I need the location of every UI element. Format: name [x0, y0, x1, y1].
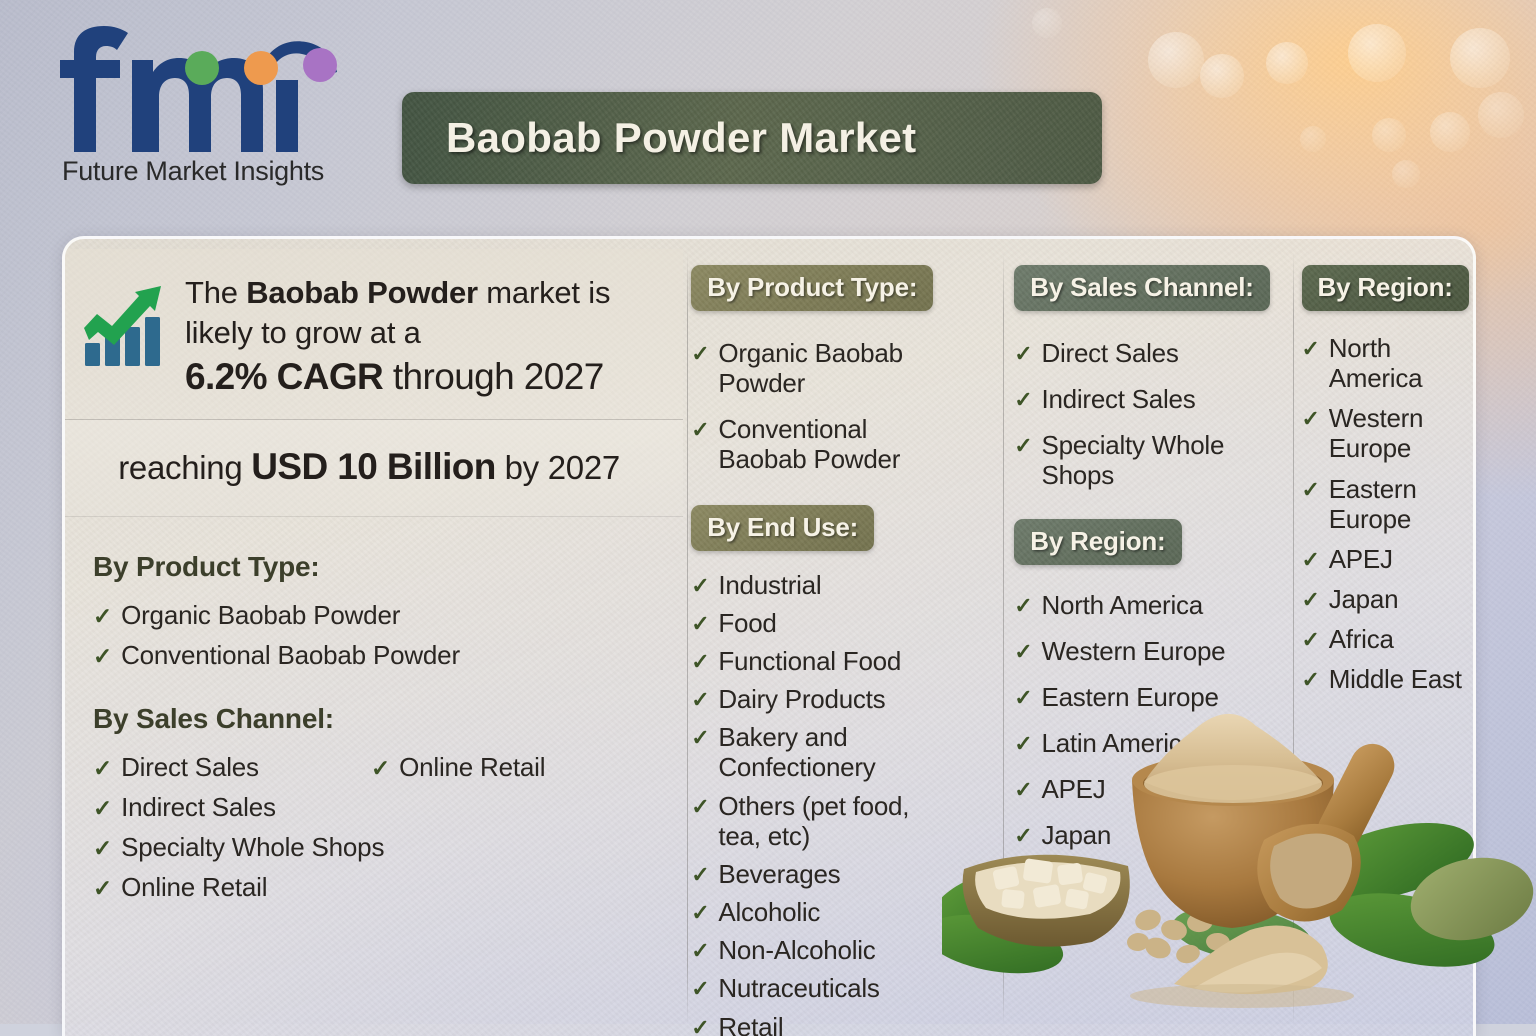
check-icon: ✓ [691, 796, 709, 818]
growth-chart-icon [83, 283, 175, 369]
list-item-label: Latin America [1041, 728, 1195, 758]
list-sales-channel: ✓ Direct Sales ✓ Indirect Sales ✓ Specia… [1014, 330, 1287, 499]
list-item[interactable]: ✓ Western Europe [1014, 628, 1287, 674]
list-region: ✓ North America ✓ Western Europe ✓ Easte… [1302, 328, 1474, 700]
list-item-label: Functional Food [718, 646, 901, 676]
check-icon: ✓ [1014, 733, 1032, 755]
left-list-sales-channel: ✓ Direct Sales ✓ Online Retail ✓ Indirec… [93, 747, 683, 907]
check-icon: ✓ [93, 645, 112, 668]
check-icon: ✓ [691, 727, 709, 749]
list-item-label: Eastern Europe [1041, 682, 1218, 712]
column-sales-channel-region: By Sales Channel: ✓ Direct Sales ✓ Indir… [998, 239, 1287, 1036]
list-item-label: Western Europe [1329, 403, 1447, 463]
check-icon: ✓ [691, 343, 709, 365]
list-item[interactable]: ✓ Non-Alcoholic [691, 931, 998, 969]
section-pill-region: By Region: [1302, 265, 1469, 311]
list-item-label: Japan [1041, 820, 1111, 850]
list-item[interactable]: ✓ North America [1014, 582, 1287, 628]
check-icon: ✓ [691, 902, 709, 924]
check-icon: ✓ [691, 651, 709, 673]
list-item-label: Direct Sales [121, 754, 259, 780]
list-item-label: APEJ [1329, 544, 1393, 574]
list-item-label: Nutraceuticals [718, 973, 879, 1003]
check-icon: ✓ [1014, 389, 1032, 411]
column-divider-2 [1003, 253, 1004, 1025]
stat-cagr-line: 6.2% CAGR through 2027 [185, 353, 610, 401]
list-item-label: Non-Alcoholic [718, 935, 875, 965]
list-item[interactable]: ✓ Beverages [691, 855, 998, 893]
list-item[interactable]: ✓ Direct Sales [93, 747, 371, 787]
list-item[interactable]: ✓ Online Retail [371, 747, 545, 787]
check-icon: ✓ [1302, 479, 1320, 501]
check-icon: ✓ [1302, 408, 1320, 430]
column-divider-1 [687, 253, 688, 1025]
list-item[interactable]: ✓ Conventional Baobab Powder [691, 406, 998, 482]
check-icon: ✓ [691, 864, 709, 886]
list-item[interactable]: ✓ Bakery and Confectionery [691, 718, 998, 786]
check-icon: ✓ [691, 419, 709, 441]
page-title: Baobab Powder Market [402, 114, 916, 162]
list-item[interactable]: ✓ Nutraceuticals [691, 969, 998, 1007]
list-item-label: Others (pet food, tea, etc) [718, 791, 942, 851]
list-item-label: Online Retail [399, 754, 545, 780]
list-item-label: APEJ [1041, 774, 1105, 804]
list-item-label: Industrial [718, 570, 821, 600]
check-icon: ✓ [371, 757, 390, 780]
list-item[interactable]: ✓ Food [691, 604, 998, 642]
list-item-label: Middle East [1329, 664, 1462, 694]
logo-wordmark-svg [60, 24, 380, 154]
list-item[interactable]: ✓ Retail [691, 1008, 998, 1036]
left-section-product-type: By Product Type: ✓ Organic Baobab Powder… [65, 517, 683, 675]
section-pill-product-type: By Product Type: [691, 265, 933, 311]
list-item[interactable]: ✓ Organic Baobab Powder [93, 595, 683, 635]
list-item-label: Conventional Baobab Powder [718, 414, 940, 474]
list-item[interactable]: ✓ Latin America [1014, 720, 1287, 766]
check-icon: ✓ [691, 940, 709, 962]
check-icon: ✓ [93, 605, 112, 628]
list-item-label: Specialty Whole Shops [1041, 430, 1249, 490]
list-item-label: Eastern Europe [1329, 474, 1447, 534]
list-item[interactable]: ✓ Indirect Sales [1014, 376, 1287, 422]
stat-line-2: likely to grow at a [185, 313, 610, 353]
list-item-label: Organic Baobab Powder [718, 338, 940, 398]
check-icon: ✓ [93, 837, 112, 860]
list-item-label: Japan [1329, 584, 1399, 614]
left-section-sales-channel: By Sales Channel: ✓ Direct Sales ✓ Onlin… [65, 675, 683, 907]
spacer [1014, 499, 1287, 519]
list-item-label: Food [718, 608, 776, 638]
list-item-label: Organic Baobab Powder [121, 602, 400, 628]
logo-mark [60, 24, 380, 154]
stat-divider-2 [65, 516, 683, 517]
list-item[interactable]: ✓ Others (pet food, tea, etc) [691, 787, 998, 855]
check-icon: ✓ [1302, 338, 1320, 360]
list-item[interactable]: ✓ APEJ [1014, 766, 1287, 812]
list-item[interactable]: ✓ North America [1302, 328, 1474, 398]
list-item[interactable]: ✓ Eastern Europe [1014, 674, 1287, 720]
left-heading-sales-channel: By Sales Channel: [93, 703, 683, 735]
list-end-use: ✓ Industrial ✓ Food ✓ Functional Food ✓ … [691, 566, 998, 1036]
list-item[interactable]: ✓ Western Europe [1302, 398, 1474, 468]
list-item-label: Beverages [718, 859, 840, 889]
list-item[interactable]: ✓ Japan [1014, 812, 1287, 858]
column-divider-3 [1293, 253, 1294, 1025]
check-icon: ✓ [691, 689, 709, 711]
list-product-type: ✓ Organic Baobab Powder ✓ Conventional B… [691, 330, 998, 483]
check-icon: ✓ [1014, 343, 1032, 365]
check-icon: ✓ [93, 877, 112, 900]
check-icon: ✓ [1014, 435, 1032, 457]
check-icon: ✓ [691, 978, 709, 1000]
check-icon: ✓ [1302, 549, 1320, 571]
column-product-type-end-use: By Product Type: ✓ Organic Baobab Powder… [683, 239, 998, 1036]
list-item-label: Dairy Products [718, 684, 885, 714]
content-panel: The Baobab Powder market is likely to gr… [62, 236, 1476, 1036]
title-banner: Baobab Powder Market [402, 92, 1102, 184]
check-icon: ✓ [691, 575, 709, 597]
list-item[interactable]: ✓ Indirect Sales [93, 787, 683, 827]
section-pill-sales-channel: By Sales Channel: [1014, 265, 1269, 311]
section-pill-region-mid: By Region: [1014, 519, 1181, 565]
check-icon: ✓ [1014, 779, 1032, 801]
check-icon: ✓ [1014, 825, 1032, 847]
list-item-label: Specialty Whole Shops [121, 834, 384, 860]
list-item-label: North America [1329, 333, 1449, 393]
check-icon: ✓ [1014, 595, 1032, 617]
list-item-label: Bakery and Confectionery [718, 722, 930, 782]
list-item-label: Conventional Baobab Powder [121, 642, 460, 668]
check-icon: ✓ [1302, 589, 1320, 611]
check-icon: ✓ [93, 797, 112, 820]
list-item[interactable]: ✓ Direct Sales [1014, 330, 1287, 376]
list-item[interactable]: ✓ Africa [1302, 619, 1474, 659]
fmi-logo[interactable]: Future Market Insights [60, 24, 390, 204]
list-item[interactable]: ✓ Eastern Europe [1302, 469, 1474, 539]
logo-dot-purple [303, 48, 337, 82]
list-item-label: Western Europe [1041, 636, 1225, 666]
list-item-label: Indirect Sales [121, 794, 276, 820]
list-item[interactable]: ✓ Specialty Whole Shops [1014, 422, 1287, 498]
spacer [691, 483, 998, 505]
list-item[interactable]: ✓ Alcoholic [691, 893, 998, 931]
cagr-stat-block: The Baobab Powder market is likely to gr… [65, 249, 683, 419]
list-item[interactable]: ✓ Industrial [691, 566, 998, 604]
list-item[interactable]: ✓ Dairy Products [691, 680, 998, 718]
list-item[interactable]: ✓ Conventional Baobab Powder [93, 635, 683, 675]
left-heading-product-type: By Product Type: [93, 551, 683, 583]
list-item[interactable]: ✓ Specialty Whole Shops [93, 827, 683, 867]
check-icon: ✓ [93, 757, 112, 780]
column-region: By Region: ✓ North America ✓ Western Eur… [1288, 239, 1474, 1036]
logo-tagline: Future Market Insights [62, 156, 390, 187]
list-item[interactable]: ✓ Online Retail [93, 867, 683, 907]
list-item[interactable]: ✓ Middle East [1302, 659, 1474, 699]
stat-line-1: The Baobab Powder market is [185, 273, 610, 313]
market-value-stat: reaching USD 10 Billion by 2027 [65, 420, 683, 516]
list-row-pair: ✓ Direct Sales ✓ Online Retail [93, 747, 683, 787]
section-pill-end-use: By End Use: [691, 505, 874, 551]
list-item[interactable]: ✓ Japan [1302, 579, 1474, 619]
left-list-product-type: ✓ Organic Baobab Powder ✓ Conventional B… [93, 595, 683, 675]
list-item-label: Direct Sales [1041, 338, 1178, 368]
list-item[interactable]: ✓ APEJ [1302, 539, 1474, 579]
check-icon: ✓ [691, 613, 709, 635]
list-item-label: Online Retail [121, 874, 267, 900]
check-icon: ✓ [1302, 629, 1320, 651]
check-icon: ✓ [1302, 669, 1320, 691]
logo-dot-orange [244, 51, 278, 85]
logo-dot-green [185, 51, 219, 85]
list-item-label: Africa [1329, 624, 1394, 654]
list-item-label: Indirect Sales [1041, 384, 1195, 414]
stat-column: The Baobab Powder market is likely to gr… [65, 239, 683, 1036]
list-item[interactable]: ✓ Organic Baobab Powder [691, 330, 998, 406]
list-region-mid: ✓ North America ✓ Western Europe ✓ Easte… [1014, 582, 1287, 859]
check-icon: ✓ [1014, 687, 1032, 709]
check-icon: ✓ [1014, 641, 1032, 663]
list-item-label: Alcoholic [718, 897, 820, 927]
cagr-stat-text: The Baobab Powder market is likely to gr… [185, 271, 610, 401]
list-item[interactable]: ✓ Functional Food [691, 642, 998, 680]
list-item-label: North America [1041, 590, 1202, 620]
check-icon: ✓ [691, 1017, 709, 1036]
